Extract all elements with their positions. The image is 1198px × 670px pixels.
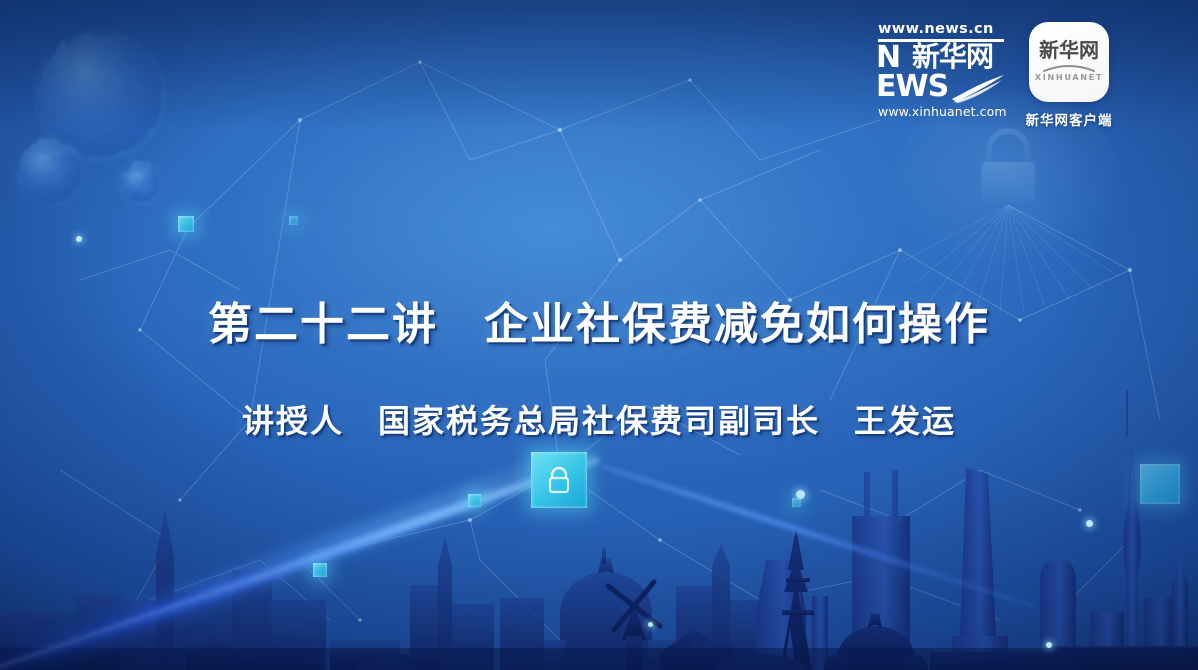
app-label: 新华网客户端	[1026, 109, 1113, 129]
app-icon[interactable]: 新华网 XINHUANET	[1029, 22, 1109, 102]
chip-node-small-c	[468, 494, 481, 507]
chip-node-small-e	[289, 216, 298, 225]
glow-node-b	[1086, 520, 1093, 527]
brand-logo-group: www.news.cn N EWS 新华网 www.xinhuanet.com …	[876, 22, 1118, 129]
page-title: 第二十二讲 企业社保费减免如何操作	[0, 288, 1198, 352]
app-icon-english: XINHUANET	[1035, 73, 1103, 81]
slide-canvas: www.news.cn N EWS 新华网 www.xinhuanet.com …	[0, 0, 1198, 670]
page-subtitle: 讲授人 国家税务总局社保费司副司长 王发运	[0, 396, 1198, 442]
logo-chinese-wordmark: 新华网	[912, 42, 993, 72]
xinhuanet-logo[interactable]: www.news.cn N EWS 新华网 www.xinhuanet.com	[876, 22, 1008, 119]
arc-icon	[1043, 63, 1095, 72]
app-icon-chinese: 新华网	[1039, 40, 1099, 60]
chip-node-small-a	[178, 216, 194, 232]
logo-latin-line2: EWS	[876, 72, 948, 101]
lock-icon	[531, 452, 587, 508]
xinhuanet-app-promo[interactable]: 新华网 XINHUANET 新华网客户端	[1020, 22, 1118, 129]
glow-node-d	[1046, 642, 1052, 648]
glow-node-e	[648, 622, 653, 627]
chip-node-small-f	[792, 498, 801, 507]
swoosh-icon	[950, 73, 1008, 103]
glow-node-c	[76, 236, 82, 242]
chip-node-small-b	[313, 563, 327, 577]
chip-node-small-d	[1140, 464, 1180, 504]
logo-url-top: www.news.cn	[876, 22, 1008, 37]
logo-url-bottom: www.xinhuanet.com	[876, 106, 1008, 119]
security-chip-icon	[531, 452, 587, 508]
